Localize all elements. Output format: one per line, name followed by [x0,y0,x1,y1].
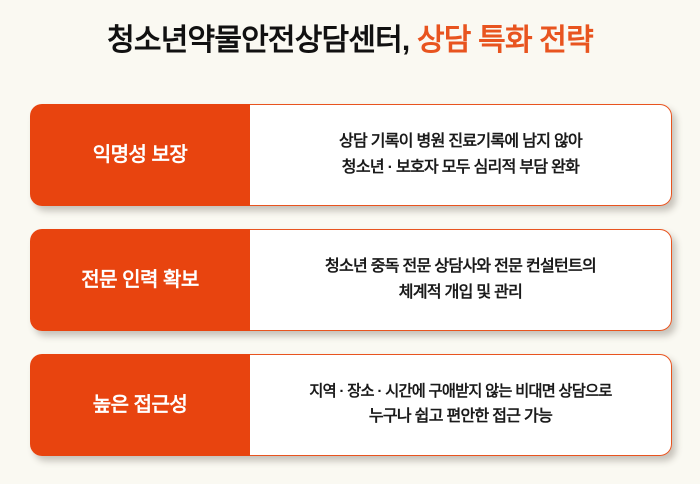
strategy-body-1: 상담 기록이 병원 진료기록에 남지 않아 청소년 · 보호자 모두 심리적 부… [250,104,672,206]
page-title-accent: 상담 특화 전략 [409,24,592,57]
strategy-list: 익명성 보장 상담 기록이 병원 진료기록에 남지 않아 청소년 · 보호자 모… [30,104,672,456]
strategy-body-line-2-1: 청소년 중독 전문 상담사와 전문 컨설턴트의 [325,254,596,280]
strategy-body-line-1-2: 청소년 · 보호자 모두 심리적 부담 완화 [342,155,579,181]
strategy-body-line-3-2: 누구나 쉽고 편안한 접근 가능 [369,404,552,430]
strategy-body-line-1-1: 상담 기록이 병원 진료기록에 남지 않아 [339,129,582,155]
strategy-row-3: 높은 접근성 지역 · 장소 · 시간에 구애받지 않는 비대면 상담으로 누구… [30,354,672,456]
strategy-row-1: 익명성 보장 상담 기록이 병원 진료기록에 남지 않아 청소년 · 보호자 모… [30,104,672,206]
slide-root: 청소년약물안전상담센터, 상담 특화 전략 익명성 보장 상담 기록이 병원 진… [0,0,700,484]
strategy-body-2: 청소년 중독 전문 상담사와 전문 컨설턴트의 체계적 개입 및 관리 [250,229,672,331]
page-title-primary: 청소년약물안전상담센터, [107,24,409,57]
strategy-label-2: 전문 인력 확보 [81,268,199,292]
strategy-label-block-3: 높은 접근성 [30,354,250,456]
strategy-label-block-1: 익명성 보장 [30,104,250,206]
strategy-label-1: 익명성 보장 [93,143,188,167]
strategy-label-block-2: 전문 인력 확보 [30,229,250,331]
strategy-body-line-2-2: 체계적 개입 및 관리 [399,280,522,306]
strategy-row-2: 전문 인력 확보 청소년 중독 전문 상담사와 전문 컨설턴트의 체계적 개입 … [30,229,672,331]
strategy-body-3: 지역 · 장소 · 시간에 구애받지 않는 비대면 상담으로 누구나 쉽고 편안… [250,354,672,456]
page-title: 청소년약물안전상담센터, 상담 특화 전략 [0,22,700,60]
strategy-body-line-3-1: 지역 · 장소 · 시간에 구애받지 않는 비대면 상담으로 [309,380,611,405]
strategy-label-3: 높은 접근성 [93,393,188,417]
